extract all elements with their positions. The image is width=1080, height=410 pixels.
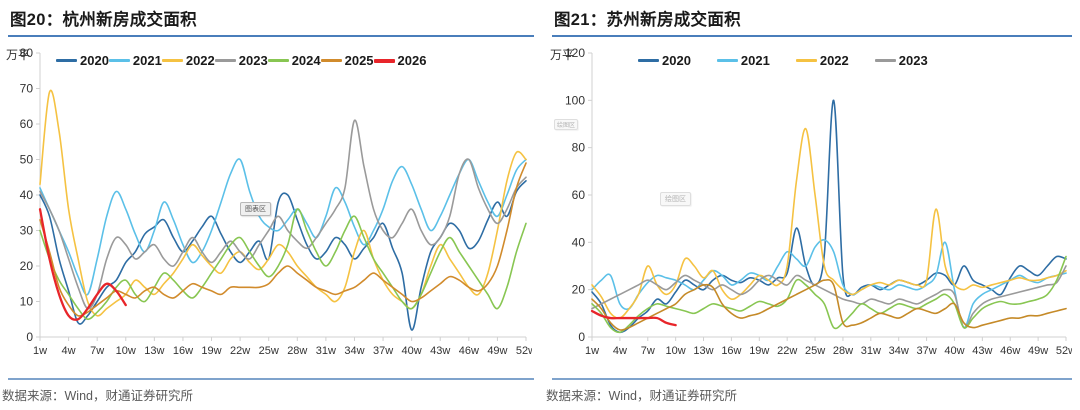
- x-axis-tick-label: 46w: [459, 345, 479, 357]
- figure-21-title-rule: [552, 35, 1072, 37]
- figure-21-source: 数据来源：Wind，财通证券研究所: [546, 385, 737, 404]
- y-axis-tick-label: 60: [572, 188, 586, 202]
- y-axis-tick-label: 0: [578, 330, 585, 344]
- x-axis-tick-label: 7w: [641, 345, 655, 357]
- figure-21-plot-area: 0204060801001201w4w7w10w13w16w19w22w25w2…: [552, 47, 1072, 363]
- x-axis-tick-label: 19w: [201, 345, 221, 357]
- x-axis-tick-label: 34w: [889, 345, 909, 357]
- x-axis-tick-label: 43w: [972, 345, 992, 357]
- figure-21-title: 图21：苏州新房成交面积: [552, 0, 1072, 35]
- y-axis-tick-label: 10: [20, 295, 34, 309]
- figure-21-plot-area-tooltip: 绘图区: [660, 192, 691, 206]
- y-axis-tick-label: 40: [572, 235, 586, 249]
- figure-panel-21: 图21：苏州新房成交面积 万平 2020 2021 2022 2023 0204…: [540, 0, 1080, 410]
- x-axis-tick-label: 52w: [1056, 345, 1072, 357]
- figure-21-svg: 0204060801001201w4w7w10w13w16w19w22w25w2…: [552, 47, 1072, 363]
- x-axis-tick-label: 1w: [585, 345, 599, 357]
- y-axis-tick-label: 80: [572, 141, 586, 155]
- figure-20-chart-area-tooltip: 图表区: [240, 202, 271, 216]
- y-axis-tick-label: 60: [20, 117, 34, 131]
- x-axis-tick-label: 4w: [613, 345, 627, 357]
- y-axis-tick-label: 20: [572, 283, 586, 297]
- figure-20-plot-area: 010203040506070801w4w7w10w13w16w19w22w25…: [8, 47, 534, 363]
- y-axis-tick-label: 50: [20, 153, 34, 167]
- y-axis-tick-label: 30: [20, 224, 34, 238]
- x-axis-tick-label: 4w: [62, 345, 76, 357]
- x-axis-tick-label: 25w: [805, 345, 825, 357]
- figure-20-title-rule: [8, 35, 534, 37]
- figures-page: 图20：杭州新房成交面积 万平 2020 2021 2022 2023: [0, 0, 1080, 410]
- x-axis-tick-label: 7w: [90, 345, 104, 357]
- x-axis-tick-label: 37w: [916, 345, 936, 357]
- x-axis-tick-label: 10w: [116, 345, 136, 357]
- x-axis-tick-label: 1w: [33, 345, 47, 357]
- x-axis-tick-label: 13w: [144, 345, 164, 357]
- x-axis-tick-label: 22w: [230, 345, 250, 357]
- x-axis-tick-label: 19w: [749, 345, 769, 357]
- figure-20-title: 图20：杭州新房成交面积: [8, 0, 534, 35]
- x-axis-tick-label: 25w: [259, 345, 279, 357]
- x-axis-tick-label: 22w: [777, 345, 797, 357]
- x-axis-tick-label: 49w: [1028, 345, 1048, 357]
- figure-20-bottom-rule: [8, 378, 534, 380]
- x-axis-tick-label: 37w: [373, 345, 393, 357]
- x-axis-tick-label: 31w: [861, 345, 881, 357]
- x-axis-tick-label: 40w: [944, 345, 964, 357]
- x-axis-tick-label: 16w: [721, 345, 741, 357]
- x-axis-tick-label: 34w: [344, 345, 364, 357]
- y-axis-tick-label: 40: [20, 188, 34, 202]
- series-line-2021: [40, 159, 526, 295]
- figure-21-axis-area-tooltip: 绘图区: [554, 119, 578, 130]
- x-axis-tick-label: 49w: [487, 345, 507, 357]
- x-axis-tick-label: 31w: [316, 345, 336, 357]
- figure-panel-20: 图20：杭州新房成交面积 万平 2020 2021 2022 2023: [0, 0, 540, 410]
- x-axis-tick-label: 52w: [516, 345, 532, 357]
- series-line-2023: [40, 120, 526, 309]
- y-axis-tick-label: 80: [20, 47, 34, 60]
- x-axis-tick-label: 28w: [833, 345, 853, 357]
- x-axis-tick-label: 46w: [1000, 345, 1020, 357]
- y-axis-tick-label: 100: [565, 93, 585, 107]
- figure-20-source: 数据来源：Wind，财通证券研究所: [2, 385, 193, 404]
- x-axis-tick-label: 10w: [666, 345, 686, 357]
- y-axis-tick-label: 0: [26, 330, 33, 344]
- y-axis-tick-label: 20: [20, 259, 34, 273]
- y-axis-tick-label: 120: [565, 47, 585, 60]
- x-axis-tick-label: 40w: [402, 345, 422, 357]
- x-axis-tick-label: 16w: [173, 345, 193, 357]
- x-axis-tick-label: 43w: [430, 345, 450, 357]
- y-axis-tick-label: 70: [20, 82, 34, 96]
- x-axis-tick-label: 28w: [287, 345, 307, 357]
- x-axis-tick-label: 13w: [693, 345, 713, 357]
- figure-21-bottom-rule: [552, 378, 1072, 380]
